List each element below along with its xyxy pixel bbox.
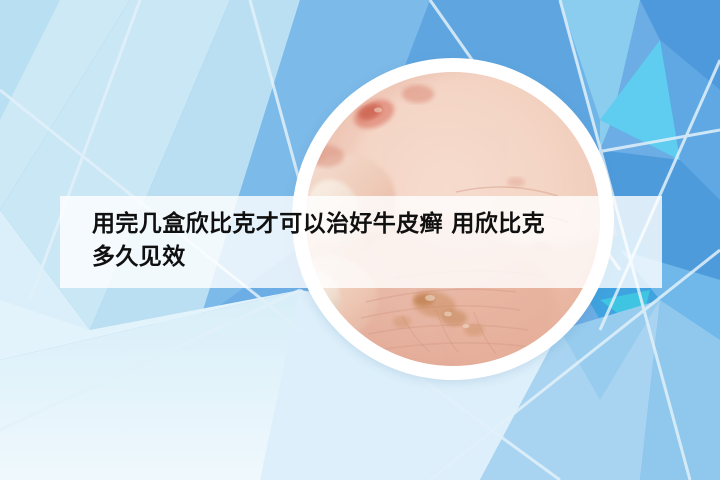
- caption-title: 用完几盒欣比克才可以治好牛皮癣 用欣比克 多久见效: [92, 208, 652, 274]
- cover-image-canvas: 用完几盒欣比克才可以治好牛皮癣 用欣比克 多久见效: [0, 0, 720, 480]
